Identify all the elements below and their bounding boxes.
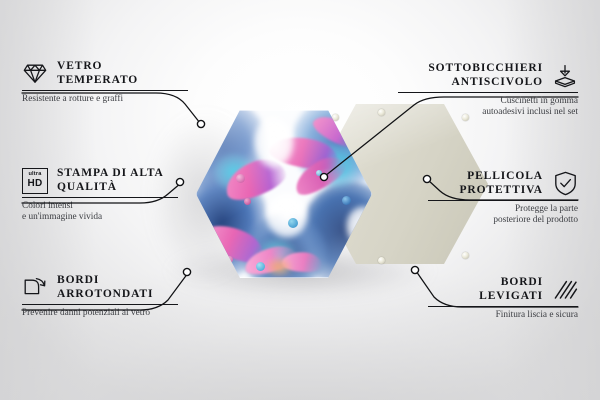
- callout-bordi-arrotondati: BORDIARROTONDATI Prevenire danni potenzi…: [22, 274, 212, 319]
- callout-title: STAMPA DI ALTAQUALITÀ: [57, 167, 164, 194]
- callout-pellicola-protettiva: PELLICOLAPROTETTIVA Protegge la partepos…: [428, 170, 578, 227]
- callout-bordi-levigati: BORDILEVIGATI Finitura liscia e sicura: [428, 276, 578, 321]
- product-infographic: VETROTEMPERATO Resistente a rotture e gr…: [0, 0, 600, 400]
- callout-title: BORDIARROTONDATI: [57, 274, 153, 301]
- callout-subtitle: Protegge la parteposteriore del prodotto: [428, 204, 578, 227]
- rounded-corner-icon: [22, 275, 48, 301]
- callout-rule: [398, 92, 578, 93]
- shield-check-icon: [552, 171, 578, 197]
- callout-rule: [22, 197, 178, 198]
- callout-rule: [428, 306, 578, 307]
- callout-title: PELLICOLAPROTETTIVA: [459, 170, 543, 197]
- callout-subtitle: Prevenire danni potenziali al vetro: [22, 308, 212, 319]
- callout-subtitle: Finitura liscia e sicura: [428, 310, 578, 321]
- callout-rule: [22, 90, 188, 91]
- callout-subtitle: Colori intensie un'immagine vivida: [22, 201, 212, 224]
- callout-stampa-alta-qualita: ultra HD STAMPA DI ALTAQUALITÀ Colori in…: [22, 167, 212, 224]
- diagonal-hatch-icon: [552, 277, 578, 303]
- callout-sottobicchieri-antiscivolo: SOTTOBICCHIERIANTISCIVOLO Cuscinetti in …: [398, 62, 578, 119]
- callout-title: BORDILEVIGATI: [479, 276, 543, 303]
- callout-subtitle: Resistente a rotture e graffi: [22, 94, 202, 105]
- ultra-hd-badge-icon: ultra HD: [22, 168, 48, 194]
- callout-title: VETROTEMPERATO: [57, 60, 138, 87]
- callout-vetro-temperato: VETROTEMPERATO Resistente a rotture e gr…: [22, 60, 202, 105]
- callout-rule: [22, 304, 178, 305]
- callout-subtitle: Cuscinetti in gommaautoadesivi inclusi n…: [398, 96, 578, 119]
- press-pad-icon: [552, 63, 578, 89]
- callout-rule: [428, 200, 578, 201]
- diamond-icon: [22, 61, 48, 87]
- callout-title: SOTTOBICCHIERIANTISCIVOLO: [428, 62, 543, 89]
- badge-hd-text: HD: [27, 179, 42, 189]
